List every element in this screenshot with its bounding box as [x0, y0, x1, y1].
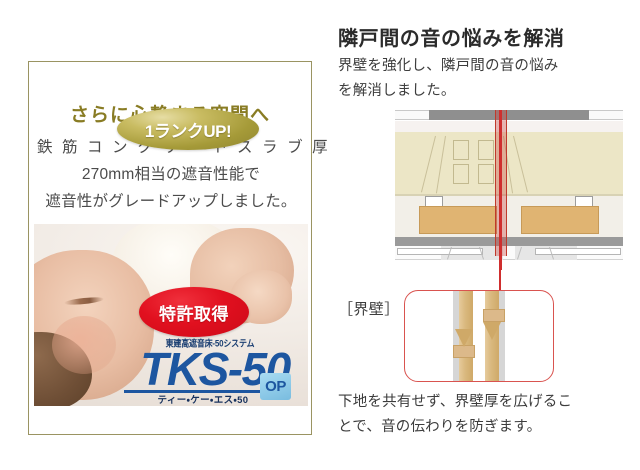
right-outro-line-1: 下地を共有せず、界壁厚を広げるこ — [338, 390, 628, 415]
upper-room-fixture — [478, 164, 494, 184]
ceiling-cavity-band — [395, 121, 623, 132]
right-intro-line-1: 界壁を強化し、隣戸間の音の悩み — [338, 54, 620, 79]
right-feature-panel: 隣戸間の音の悩みを解消 界壁を強化し、隣戸間の音の悩み を解消しました。 — [338, 22, 628, 442]
upper-room-fixture — [453, 164, 469, 184]
patent-acquired-label: 特許取得 — [159, 300, 229, 325]
option-badge: OP — [260, 373, 291, 400]
baby-cheek — [52, 316, 116, 374]
right-intro-line-2: を解消しました。 — [338, 79, 620, 104]
rank-up-badge-label: 1ランクUP! — [145, 117, 231, 142]
sleeping-baby-photo: 特許取得 東建高遮音床-50システム TKS-50 ティー・ケー・エス・50 O… — [34, 224, 308, 406]
rank-up-badge: 1ランクUP! — [117, 108, 259, 150]
right-outro-line-2: とで、音の伝わりを防ぎます。 — [338, 415, 628, 440]
right-panel-outro: 下地を共有せず、界壁厚を広げるこ とで、音の伝わりを防ぎます。 — [338, 390, 628, 440]
party-wall-center-line — [499, 110, 502, 270]
building-cross-section-diagram — [395, 110, 623, 260]
roof-concrete-band — [429, 110, 589, 120]
wall-wedge-lower — [455, 329, 473, 347]
lower-room-desk — [419, 206, 497, 234]
callout-connector-line — [499, 260, 501, 290]
patent-acquired-badge: 特許取得 — [139, 287, 249, 337]
wall-brace-upper — [483, 309, 505, 322]
upper-room-fixture — [453, 140, 469, 160]
wall-wedge-upper — [483, 322, 501, 340]
right-panel-intro: 界壁を強化し、隣戸間の音の悩み を解消しました。 — [338, 54, 620, 104]
foundation-void — [535, 248, 621, 255]
floor-slab-band — [395, 237, 623, 246]
left-feature-panel: 1ランクUP! さらに心静まる空間へ 鉄 筋 コ ン ク リ ー ト ス ラ ブ… — [28, 61, 312, 435]
party-wall-label: ［界壁］ — [338, 298, 400, 319]
party-wall-detail-diagram — [404, 290, 554, 382]
foundation-void — [397, 248, 483, 255]
left-body-line-3: 遮音性がグレードアップしました。 — [37, 188, 305, 215]
upper-room-fixture — [478, 140, 494, 160]
lower-room-desk — [521, 206, 599, 234]
option-badge-label: OP — [265, 378, 286, 395]
left-body-line-2: 270mm相当の遮音性能で — [37, 161, 305, 188]
right-panel-heading: 隣戸間の音の悩みを解消 — [338, 22, 565, 51]
